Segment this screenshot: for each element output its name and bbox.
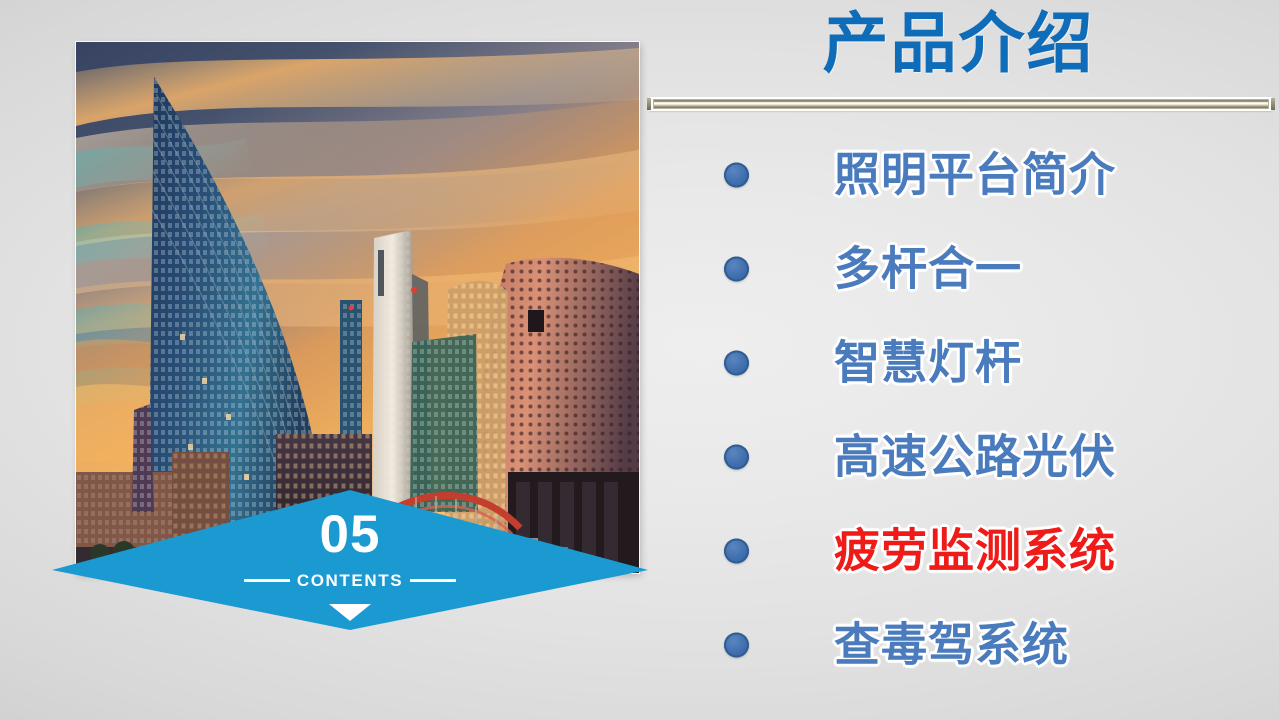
list-item[interactable]: 智慧灯杆: [648, 316, 1279, 410]
list-item-label: 疲劳监测系统: [834, 526, 1116, 577]
title-divider: [650, 97, 1272, 111]
cityscape-photo-art: [76, 42, 639, 573]
triangle-down-icon: [329, 604, 371, 621]
bullet-dot-icon: [724, 163, 749, 188]
bullet-dot-icon: [724, 445, 749, 470]
list-item[interactable]: 查毒驾系统: [648, 598, 1279, 692]
list-item[interactable]: 照明平台简介: [648, 128, 1279, 222]
list-item-label: 高速公路光伏: [834, 432, 1116, 483]
contents-label: CONTENTS: [297, 572, 403, 589]
title-divider-inner: [653, 99, 1269, 109]
bullet-list: 照明平台简介 多杆合一 智慧灯杆 高速公路光伏 疲劳监测系统 查毒驾系统: [648, 128, 1279, 692]
bullet-dot-icon: [724, 257, 749, 282]
list-item[interactable]: 高速公路光伏: [648, 410, 1279, 504]
list-item-label: 智慧灯杆: [834, 338, 1022, 389]
list-item-label: 照明平台简介: [834, 150, 1116, 201]
bullet-dot-icon: [724, 539, 749, 564]
bullet-dot-icon: [724, 351, 749, 376]
list-item-label: 查毒驾系统: [834, 620, 1069, 671]
list-item-highlighted[interactable]: 疲劳监测系统: [648, 504, 1279, 598]
rule-left-icon: [244, 579, 290, 582]
page-title: 产品介绍: [648, 6, 1269, 82]
bullet-dot-icon: [724, 633, 749, 658]
list-item-label: 多杆合一: [834, 244, 1022, 295]
rule-right-icon: [410, 579, 456, 582]
contents-label-row: CONTENTS: [52, 572, 648, 589]
cityscape-photo: [76, 42, 639, 573]
right-content-panel: 产品介绍 照明平台简介 多杆合一 智慧灯杆 高速公路光伏: [648, 0, 1279, 720]
list-item[interactable]: 多杆合一: [648, 222, 1279, 316]
presentation-slide: 05 CONTENTS 产品介绍 照明平台简介 多杆合一 智慧灯杆: [0, 0, 1279, 720]
